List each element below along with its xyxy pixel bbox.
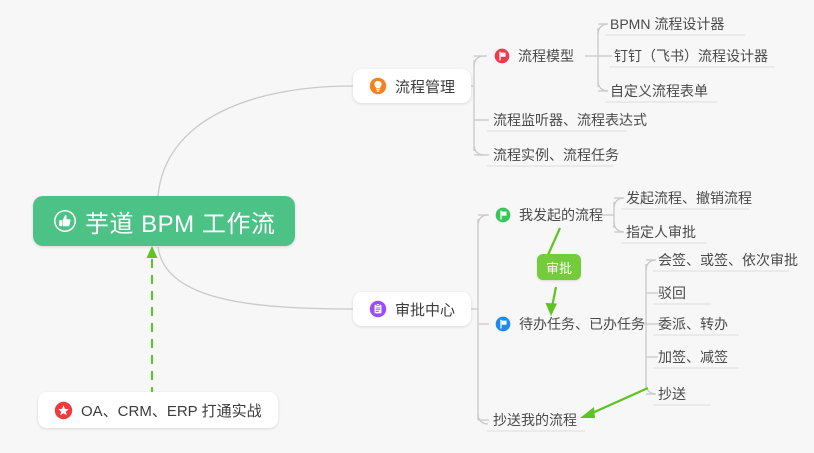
branch-label-process-management: 流程管理 bbox=[395, 76, 455, 97]
leaf-label-custom-process-form: 自定义流程表单 bbox=[610, 81, 708, 101]
flag-icon bbox=[494, 48, 510, 64]
dashed-arrow-sidenote-to-root bbox=[147, 246, 158, 396]
leaf-label-delegate-transfer: 委派、转办 bbox=[658, 314, 728, 334]
link-root-to-approval-center bbox=[158, 247, 353, 309]
link-root-to-process-management bbox=[158, 86, 353, 196]
annotation-tag-approval[interactable]: 审批 bbox=[537, 254, 581, 280]
thumbs-up-icon bbox=[53, 209, 77, 233]
child-label-cc-to-me: 抄送我的流程 bbox=[493, 410, 577, 430]
lightbulb-icon bbox=[369, 77, 387, 95]
annotation-tag-label: 审批 bbox=[546, 258, 572, 277]
leaf-node-cc[interactable]: 抄送 bbox=[654, 381, 690, 410]
leaf-node-add-remove-sign[interactable]: 加签、减签 bbox=[654, 344, 732, 373]
clipboard-icon bbox=[369, 300, 387, 318]
root-node[interactable]: 芋道 BPM 工作流 bbox=[33, 196, 295, 246]
branch-node-approval-center[interactable]: 审批中心 bbox=[353, 292, 471, 326]
leaf-label-assignee-approval: 指定人审批 bbox=[626, 222, 696, 242]
leaf-node-custom-process-form[interactable]: 自定义流程表单 bbox=[606, 78, 712, 107]
link-approval-center-corner-top bbox=[478, 215, 488, 225]
leaf-node-start-cancel[interactable]: 发起流程、撤销流程 bbox=[622, 185, 756, 214]
arrow-cc-to-ccmine bbox=[580, 388, 648, 418]
root-label: 芋道 BPM 工作流 bbox=[85, 204, 275, 239]
child-label-listener-expression: 流程监听器、流程表达式 bbox=[493, 110, 647, 130]
child-label-my-initiated: 我发起的流程 bbox=[519, 205, 603, 225]
mindmap-canvas: 芋道 BPM 工作流 OA、CRM、ERP 打通实战 流程管理 bbox=[0, 0, 814, 453]
leaf-label-countersign: 会签、或签、依次审批 bbox=[658, 250, 798, 270]
leaf-node-dingtalk-feishu-designer[interactable]: 钉钉（飞书）流程设计器 bbox=[610, 43, 772, 72]
leaf-node-countersign[interactable]: 会签、或签、依次审批 bbox=[654, 247, 802, 276]
leaf-label-dingtalk-feishu-designer: 钉钉（飞书）流程设计器 bbox=[614, 46, 768, 66]
leaf-label-cc: 抄送 bbox=[658, 384, 686, 404]
leaf-label-reject: 驳回 bbox=[658, 283, 686, 303]
star-icon bbox=[54, 401, 73, 420]
branch-label-approval-center: 审批中心 bbox=[395, 299, 455, 320]
flag-icon bbox=[495, 207, 511, 223]
leaf-node-delegate-transfer[interactable]: 委派、转办 bbox=[654, 311, 732, 340]
link-process-management-corner-top bbox=[474, 56, 484, 66]
side-note-node[interactable]: OA、CRM、ERP 打通实战 bbox=[38, 392, 278, 428]
leaf-label-bpmn-designer: BPMN 流程设计器 bbox=[610, 14, 724, 34]
child-label-instance-task: 流程实例、流程任务 bbox=[493, 145, 619, 165]
child-node-my-initiated[interactable]: 我发起的流程 bbox=[491, 202, 607, 231]
child-node-process-model[interactable]: 流程模型 bbox=[490, 43, 578, 72]
child-label-process-model: 流程模型 bbox=[518, 46, 574, 66]
leaf-label-start-cancel: 发起流程、撤销流程 bbox=[626, 188, 752, 208]
leaf-node-reject[interactable]: 驳回 bbox=[654, 280, 690, 309]
side-note-label: OA、CRM、ERP 打通实战 bbox=[81, 400, 262, 421]
flag-icon bbox=[495, 316, 511, 332]
branch-node-process-management[interactable]: 流程管理 bbox=[353, 69, 471, 103]
child-node-listener-expression[interactable]: 流程监听器、流程表达式 bbox=[489, 107, 651, 136]
leaf-node-bpmn-designer[interactable]: BPMN 流程设计器 bbox=[606, 11, 728, 40]
child-node-todo-done-tasks[interactable]: 待办任务、已办任务 bbox=[491, 311, 649, 340]
leaf-node-assignee-approval[interactable]: 指定人审批 bbox=[622, 219, 700, 248]
child-node-cc-to-me[interactable]: 抄送我的流程 bbox=[489, 407, 581, 436]
link-approval-center-corner-bottom bbox=[478, 414, 488, 424]
link-process-management-corner-bottom bbox=[474, 145, 484, 155]
child-node-instance-task[interactable]: 流程实例、流程任务 bbox=[489, 142, 623, 171]
leaf-label-add-remove-sign: 加签、减签 bbox=[658, 347, 728, 367]
child-label-todo-done-tasks: 待办任务、已办任务 bbox=[519, 314, 645, 334]
